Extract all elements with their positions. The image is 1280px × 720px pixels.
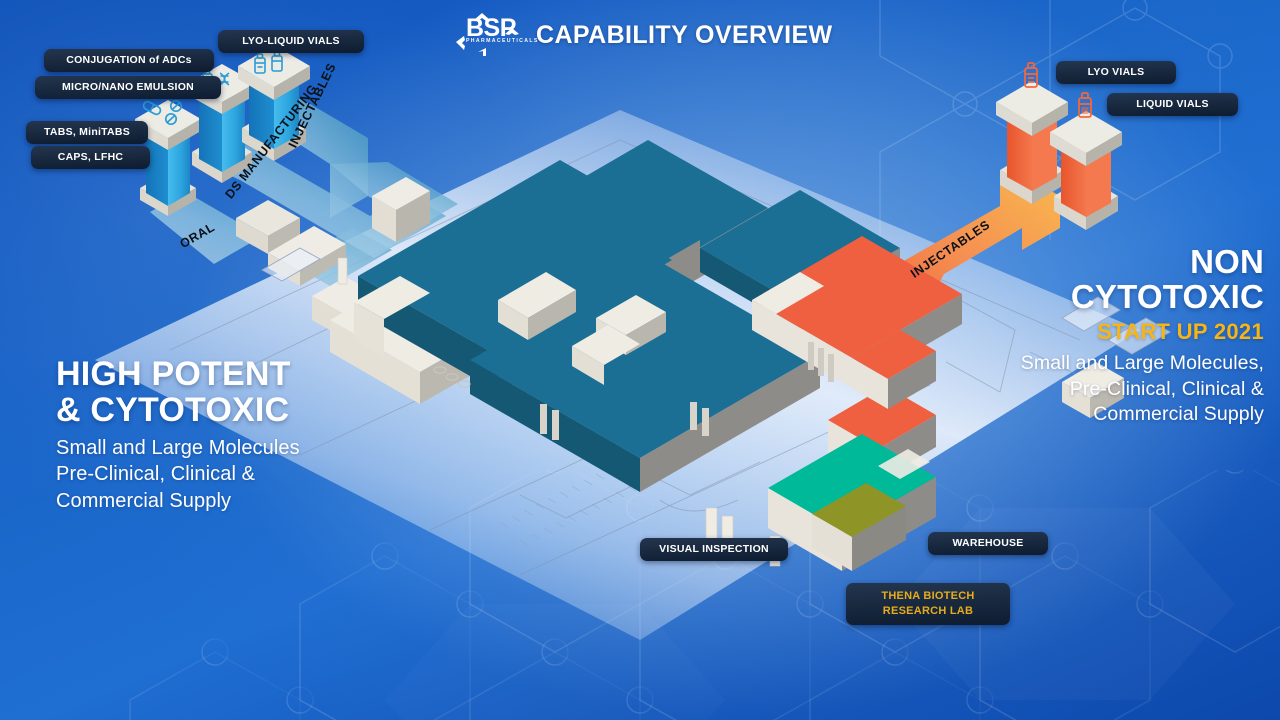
- right-title-line1: NON: [1021, 244, 1264, 279]
- non-cytotoxic-block: NON CYTOTOXIC START UP 2021 Small and La…: [1021, 244, 1264, 428]
- pedestal-label-micro-nano-emulsion[interactable]: MICRO/NANO EMULSION: [35, 76, 221, 99]
- pedestal-label-caps-lfhc[interactable]: CAPS, LFHC: [31, 146, 150, 169]
- facility-label-visual-inspection[interactable]: VISUAL INSPECTION: [640, 538, 788, 561]
- pedestal-label-lyo-vials[interactable]: LYO VIALS: [1056, 61, 1176, 84]
- right-title-line2: CYTOTOXIC: [1021, 279, 1264, 314]
- left-title-line1: HIGH POTENT: [56, 356, 300, 392]
- pedestal-label-tabs-minitabs[interactable]: TABS, MiniTABS: [26, 121, 148, 144]
- right-sub-line1: Small and Large Molecules,: [1021, 351, 1264, 377]
- research-lab-line2: RESEARCH LAB: [883, 604, 973, 619]
- pedestal-label-lyo-liquid-vials[interactable]: LYO-LIQUID VIALS: [218, 30, 364, 53]
- facility-label-thena-biotech-research-lab[interactable]: THENA BIOTECHRESEARCH LAB: [846, 583, 1010, 625]
- left-sub-line1: Small and Large Molecules: [56, 435, 300, 462]
- right-sub-line3: Commercial Supply: [1021, 402, 1264, 428]
- bsp-logo: BSP PHARMACEUTICALS: [452, 12, 526, 58]
- page-title: CAPABILITY OVERVIEW: [536, 21, 833, 50]
- research-lab-line1: THENA BIOTECH: [881, 589, 974, 604]
- high-potent-cytotoxic-block: HIGH POTENT & CYTOTOXIC Small and Large …: [56, 356, 300, 515]
- pedestal-label-conjugation-of-adcs[interactable]: CONJUGATION of ADCs: [44, 49, 214, 72]
- right-sub-line2: Pre-Clinical, Clinical &: [1021, 377, 1264, 403]
- left-sub-line2: Pre-Clinical, Clinical &: [56, 461, 300, 488]
- capability-overview-infographic: BSP PHARMACEUTICALS CAPABILITY OVERVIEW …: [0, 0, 1280, 720]
- logo-subtitle: PHARMACEUTICALS: [466, 39, 539, 44]
- left-sub-line3: Commercial Supply: [56, 488, 300, 515]
- header: BSP PHARMACEUTICALS CAPABILITY OVERVIEW: [452, 12, 833, 58]
- facility-label-warehouse[interactable]: WAREHOUSE: [928, 532, 1048, 555]
- pedestal-label-liquid-vials[interactable]: LIQUID VIALS: [1107, 93, 1238, 116]
- left-title-line2: & CYTOTOXIC: [56, 392, 300, 428]
- startup-badge: START UP 2021: [1021, 319, 1264, 345]
